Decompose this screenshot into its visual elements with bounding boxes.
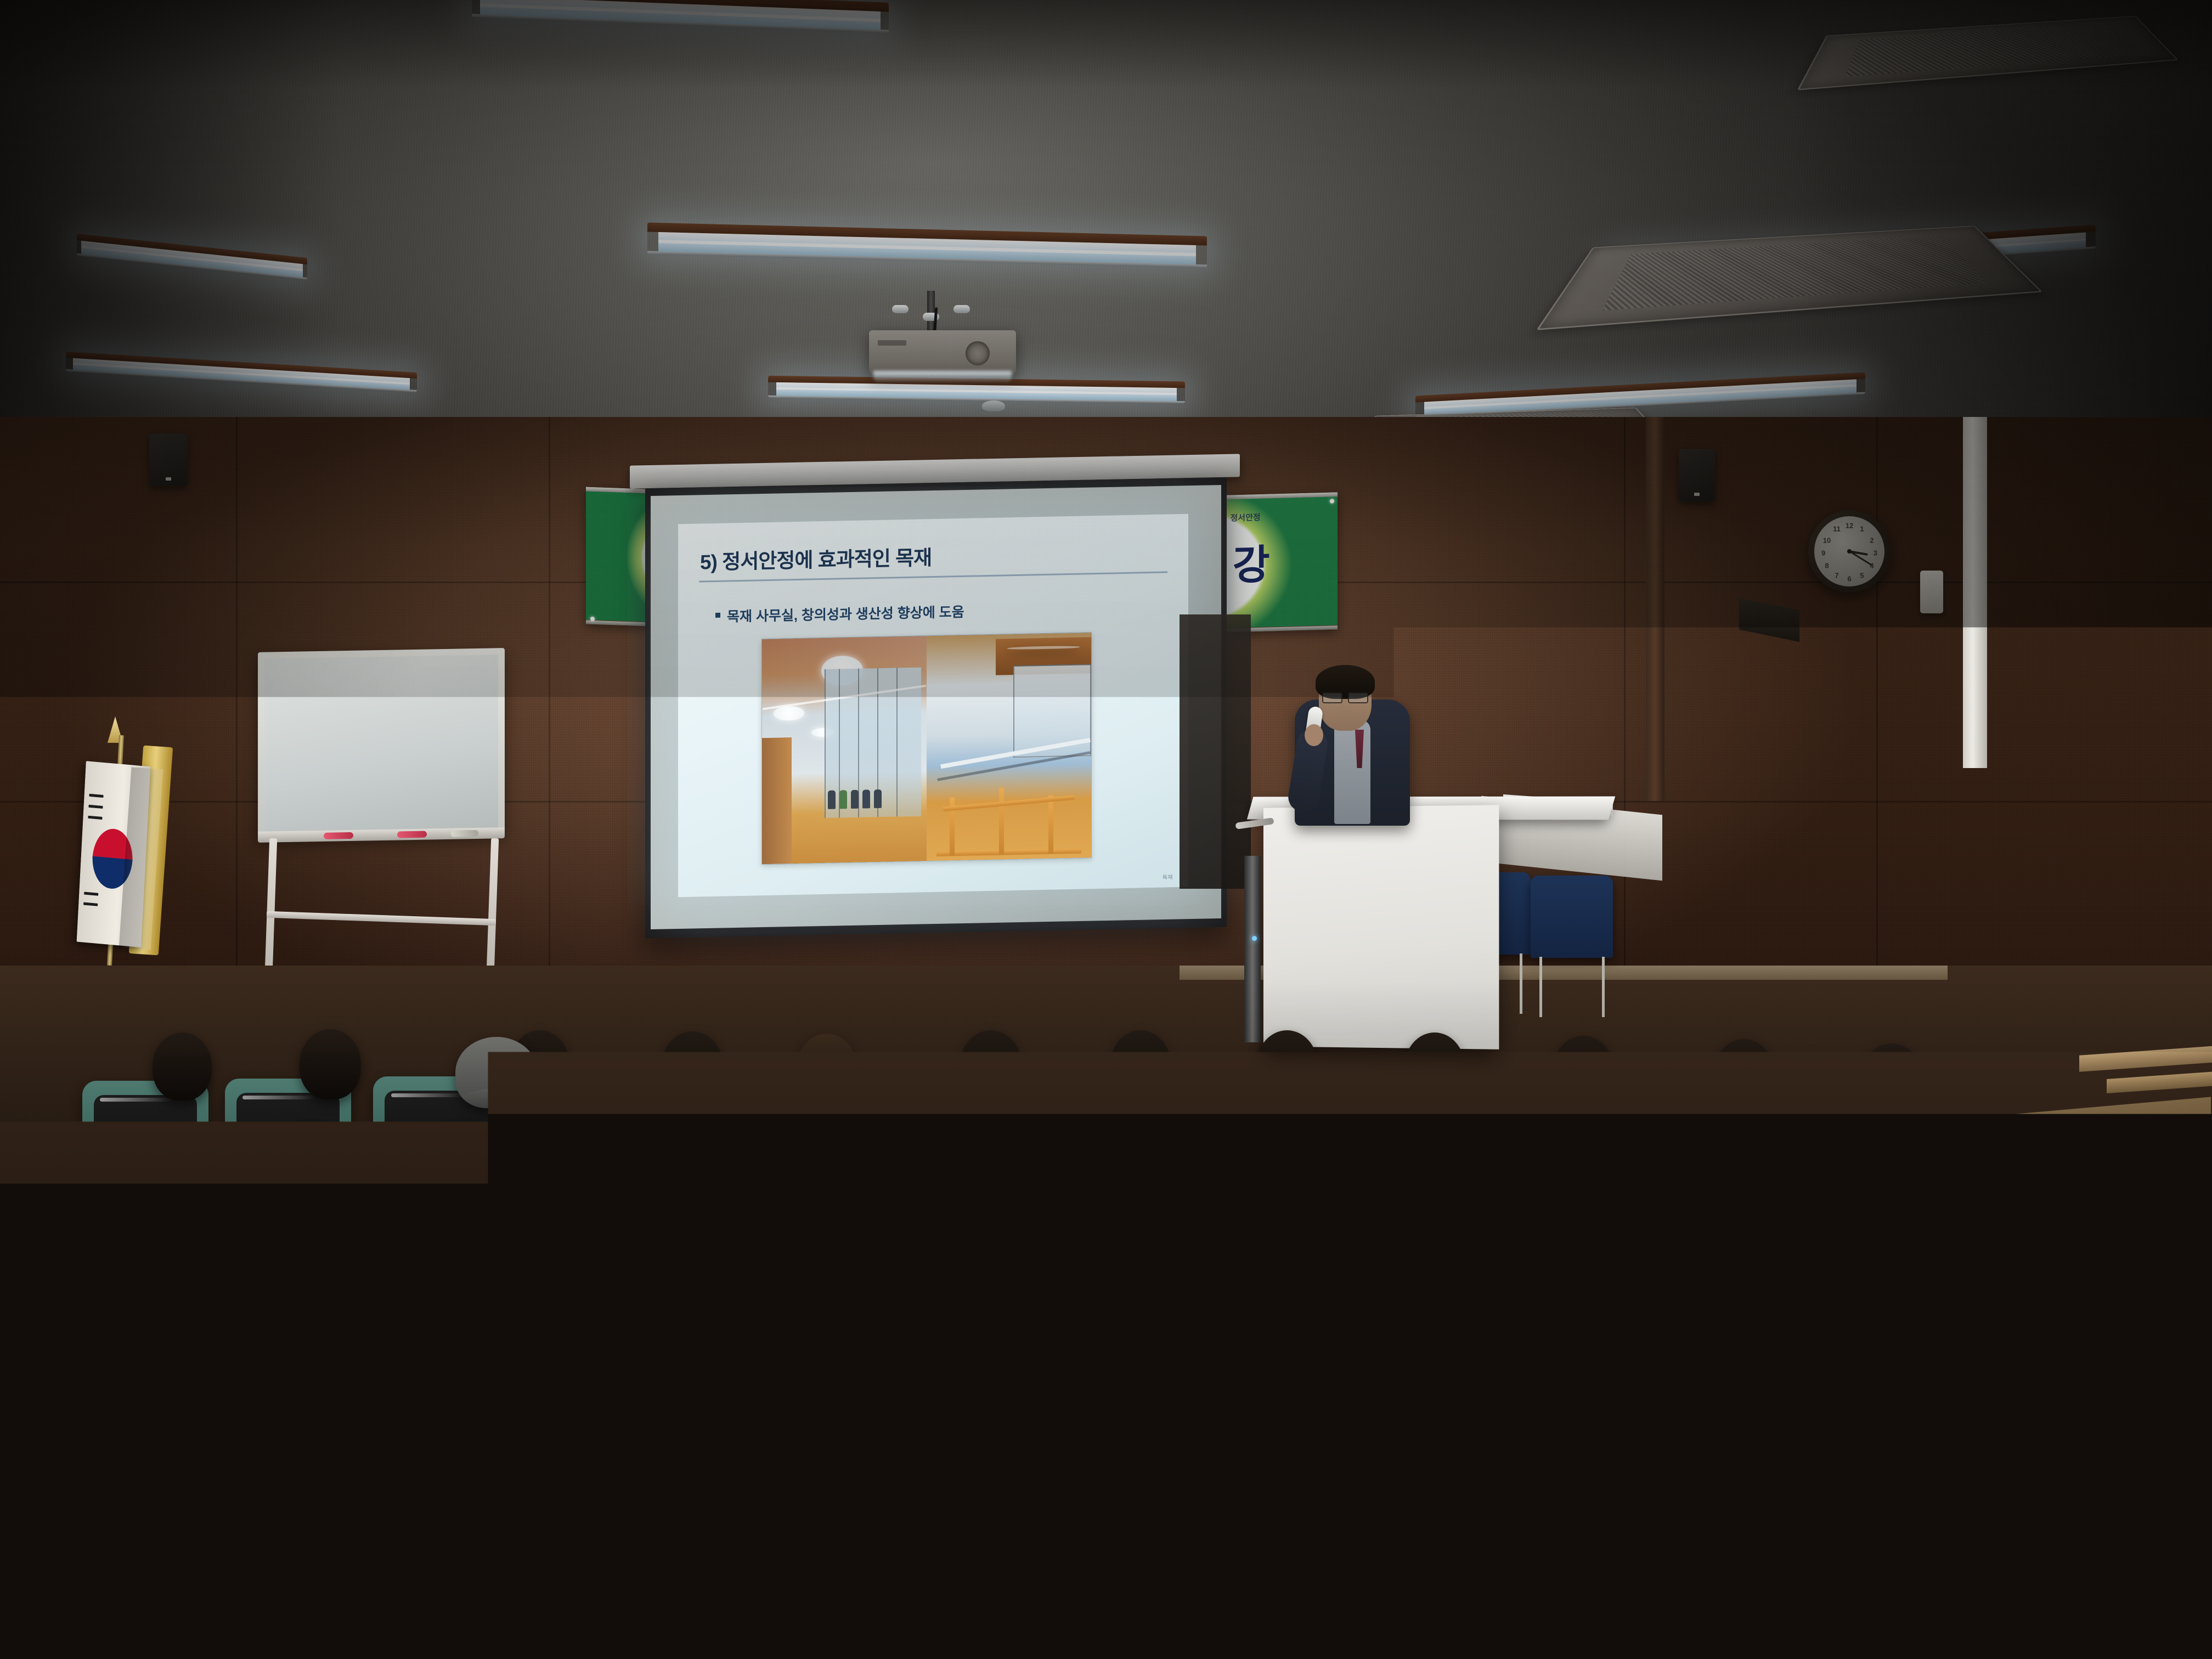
bullet-marker-icon [715,613,720,618]
clock-face: 12 1 2 3 4 5 6 7 8 9 10 11 [1814,516,1884,586]
wall-speaker-right [1679,449,1715,501]
presenter-glasses [1322,692,1368,701]
lecture-hall-photo: 정서안정 강 12 1 2 3 4 5 6 7 8 9 10 11 [0,0,2212,1659]
banner-right-subtext: 정서안정 [1230,511,1260,523]
slide-footer-text: 목재 [1163,872,1173,881]
wall-recess-dark [1180,614,1251,889]
blue-stacking-chair [1531,876,1613,958]
smoke-detector-icon [982,400,1005,411]
audience-cap-grey [455,1037,538,1108]
presentation-slide: 5) 정서안정에 효과적인 목재 목재 사무실, 창의성과 생산성 향상에 도움 [678,514,1188,898]
wall-speaker-left [149,433,188,486]
slide-photo [761,632,1092,865]
wall-clock: 12 1 2 3 4 5 6 7 8 9 10 11 [1808,510,1891,592]
ceiling-shadow-top [0,0,2212,88]
slide-bullet-item: 목재 사무실, 창의성과 생산성 향상에 도움 [715,597,1170,626]
whiteboard-marker-white [451,830,478,837]
podium-indicator-led [1252,936,1257,941]
slide-bullet-text: 목재 사무실, 창의성과 생산성 향상에 도움 [727,601,964,626]
banner-right-character: 강 [1233,532,1270,591]
whiteboard [258,648,505,839]
wall-mounted-box [1920,571,1943,613]
audience-head-foreground [763,1437,993,1657]
projector-mount-arms [892,305,970,314]
wall-column-white [1963,417,1987,768]
banner-right: 정서안정 강 [1223,492,1338,632]
presenter-hand [1305,724,1323,746]
whiteboard-marker-red [397,831,427,838]
wall-column-dark [1646,417,1664,801]
slide-photo-panel-right [927,633,1091,861]
slide-title: 5) 정서안정에 효과적인 목재 [700,536,1170,575]
ceiling-projector [869,330,1016,375]
whiteboard-surface [264,654,498,832]
slide-photo-panel-left [762,636,927,864]
audience-seating: M.P.P.C [0,982,2212,1659]
presenter-shirt [1334,720,1370,824]
